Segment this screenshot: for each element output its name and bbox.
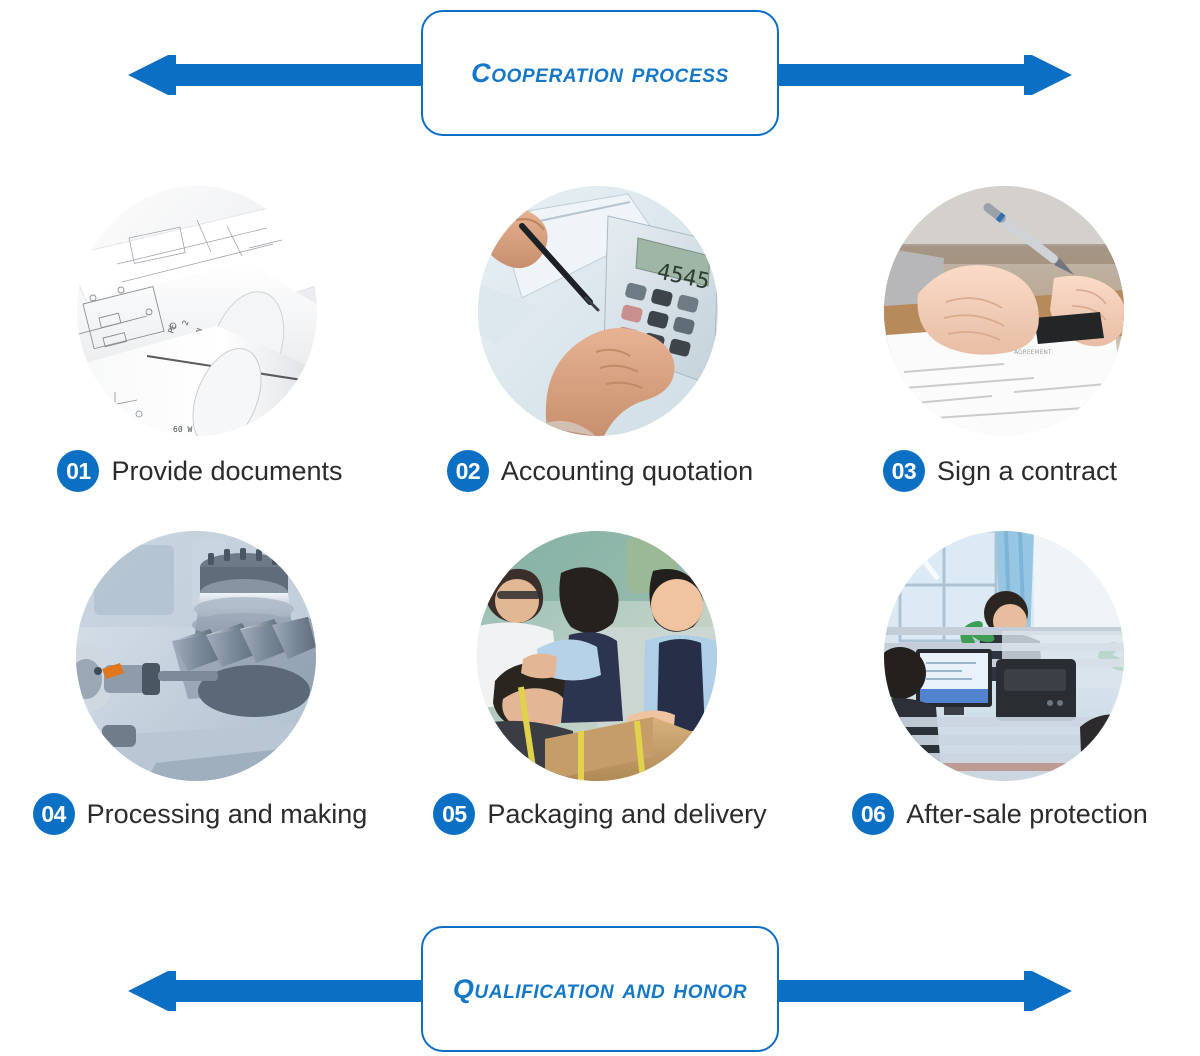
banner-title-bottom: Qualification and honor (453, 974, 747, 1005)
process-steps: PE 2 N b1 60 W (0, 186, 1200, 886)
step-badge-04: 04 (33, 793, 75, 835)
arrow-right-icon (1024, 971, 1072, 1011)
svg-text:b1: b1 (135, 423, 145, 432)
step-label-01: Provide documents (111, 458, 342, 485)
step-label-04: Processing and making (87, 801, 368, 828)
step-label-05: Packaging and delivery (487, 801, 766, 828)
process-step-06[interactable]: 06 After-sale protection (800, 531, 1200, 876)
svg-text:AGREEMENT: AGREEMENT (1014, 349, 1052, 356)
step-caption: 02 Accounting quotation (447, 450, 753, 492)
arrow-left-icon (128, 55, 176, 95)
contract-signing-photo: AGREEMENT (884, 186, 1124, 436)
banner-title-box: Cooperation process (421, 10, 779, 136)
packaging-workers-photo (477, 531, 717, 781)
step-badge-02: 02 (447, 450, 489, 492)
arrow-left-icon (128, 971, 176, 1011)
cnc-machining-photo (76, 531, 316, 781)
process-step-05[interactable]: 05 Packaging and delivery (400, 531, 800, 876)
step-badge-01: 01 (57, 450, 99, 492)
step-caption: 03 Sign a contract (883, 450, 1117, 492)
calculator-hands-photo: 4545 (478, 186, 718, 436)
process-step-row-1: PE 2 N b1 60 W (0, 186, 1200, 531)
process-step-03[interactable]: AGREEMENT (800, 186, 1200, 531)
step-badge-06: 06 (852, 793, 894, 835)
banner-title-box: Qualification and honor (421, 926, 779, 1052)
step-label-06: After-sale protection (906, 801, 1148, 828)
step-badge-05: 05 (433, 793, 475, 835)
process-step-01[interactable]: PE 2 N b1 60 W (0, 186, 400, 531)
rolled-blueprints-photo: PE 2 N b1 60 W (77, 186, 317, 436)
step-caption: 06 After-sale protection (852, 793, 1148, 835)
svg-text:60 W: 60 W (173, 425, 192, 434)
step-label-03: Sign a contract (937, 458, 1117, 485)
step-caption: 01 Provide documents (57, 450, 342, 492)
banner-title-top: Cooperation process (471, 58, 729, 89)
process-step-row-2: 04 Processing and making (0, 531, 1200, 876)
cooperation-process-banner: Cooperation process (0, 10, 1200, 140)
step-label-02: Accounting quotation (501, 458, 753, 485)
step-caption: 04 Processing and making (33, 793, 368, 835)
process-step-04[interactable]: 04 Processing and making (0, 531, 400, 876)
arrow-right-icon (1024, 55, 1072, 95)
qualification-and-honor-banner: Qualification and honor (0, 926, 1200, 1056)
step-caption: 05 Packaging and delivery (433, 793, 766, 835)
office-support-photo (884, 531, 1124, 781)
step-badge-03: 03 (883, 450, 925, 492)
process-step-02[interactable]: 4545 (400, 186, 800, 531)
